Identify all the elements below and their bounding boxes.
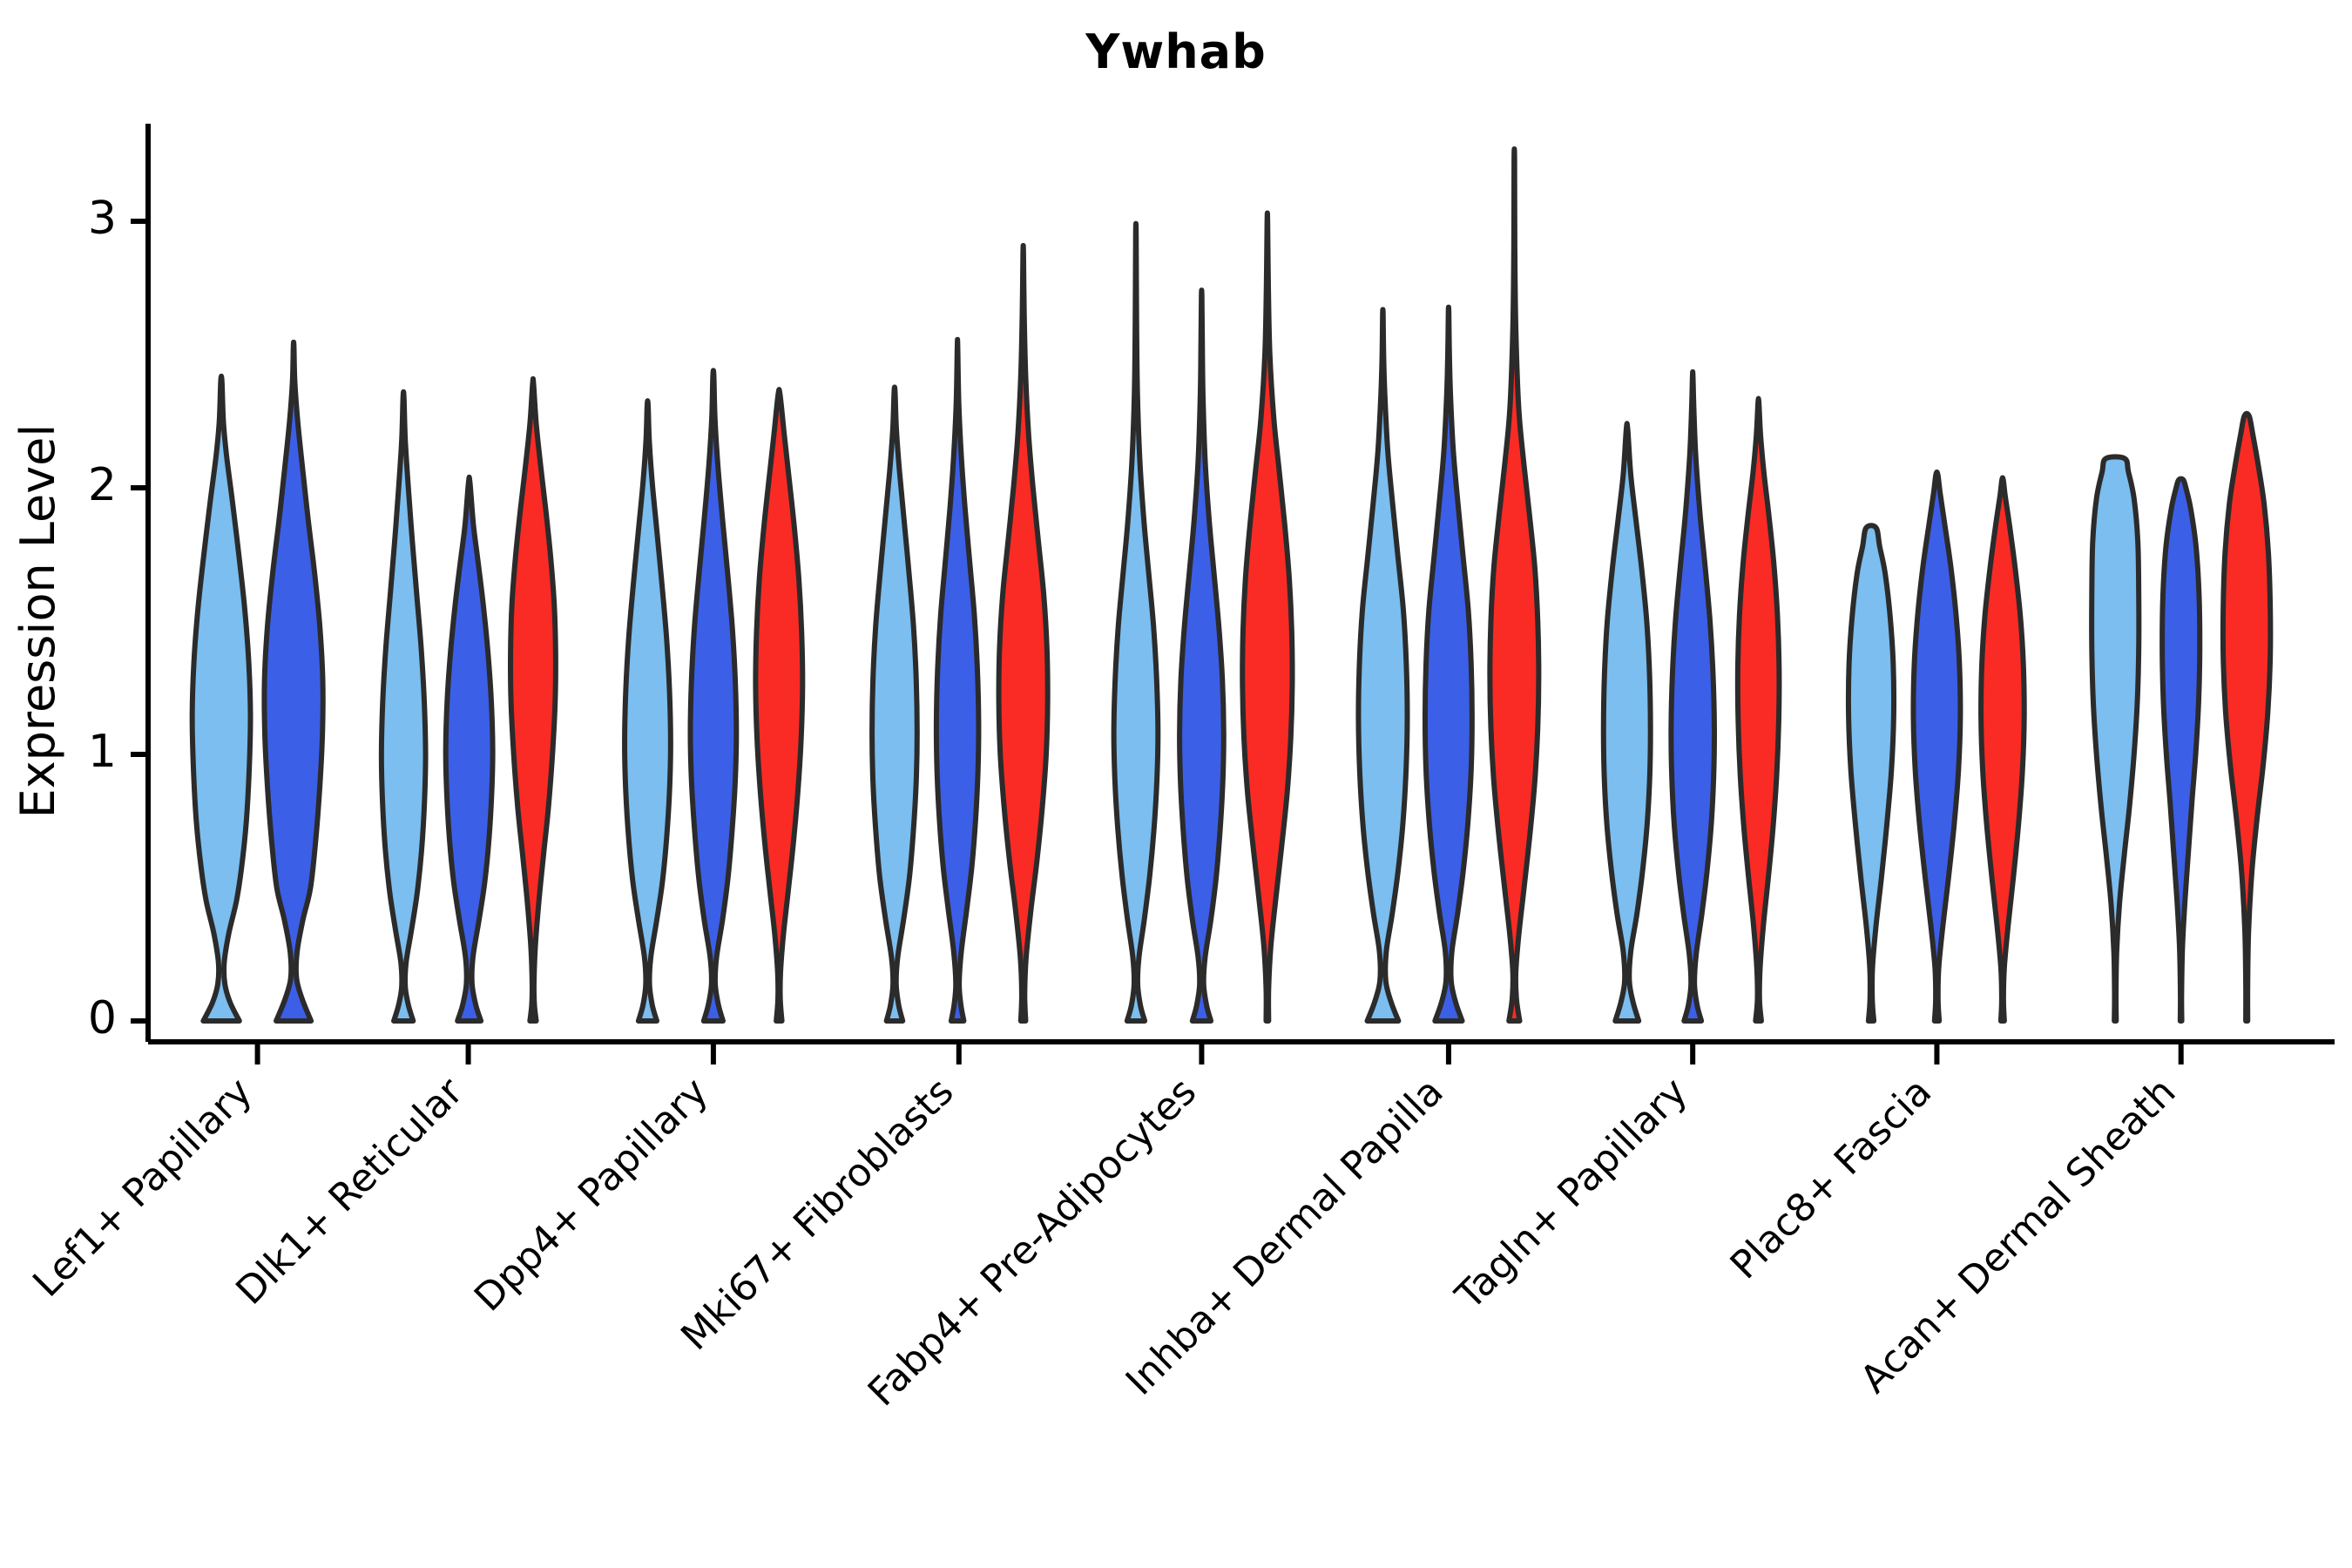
violin-shape	[1179, 290, 1224, 1021]
violin-shape	[382, 392, 426, 1021]
y-tick-label: 3	[88, 193, 117, 245]
y-axis-title: Expression Level	[10, 424, 65, 819]
x-tick-label: Lef1+ Papillary	[24, 1070, 260, 1306]
violin-shape	[1425, 308, 1472, 1021]
x-tick-label: Dpp4+ Papillary	[466, 1070, 717, 1321]
violin-shape	[1981, 478, 2024, 1021]
violin-shape	[1490, 149, 1538, 1021]
violin-shape	[510, 379, 556, 1021]
violin-shape	[264, 342, 322, 1021]
violin-shape	[1114, 224, 1159, 1021]
y-tick-label: 1	[88, 726, 117, 778]
violin-shape	[1242, 213, 1292, 1021]
x-tick-label: Tagln+ Papillary	[1447, 1070, 1696, 1319]
chart-canvas: 0123Expression LevelLef1+ PapillaryDlk1+…	[0, 0, 2352, 1568]
violin-shape	[1604, 423, 1651, 1021]
violin-shape	[999, 246, 1048, 1021]
violin-shape	[625, 401, 671, 1021]
violin-shape	[1358, 309, 1407, 1021]
violin-shape	[2223, 414, 2270, 1021]
violin-shape	[2092, 456, 2139, 1021]
violin-shape	[1848, 525, 1894, 1021]
violin-shape	[446, 477, 493, 1021]
violin-shape	[193, 376, 251, 1021]
violin-shape	[1671, 372, 1714, 1021]
violin-shape	[936, 340, 979, 1021]
violin-shape	[1738, 398, 1780, 1021]
violin-shape	[1913, 472, 1960, 1021]
violin-shape	[872, 387, 917, 1021]
y-tick-label: 2	[88, 459, 117, 511]
violins-layer	[193, 149, 2271, 1021]
x-tick-label: Mki67+ Fibroblasts	[672, 1070, 962, 1359]
violin-shape	[691, 370, 737, 1021]
x-tick-label: Dlk1+ Reticular	[227, 1069, 472, 1314]
y-tick-label: 0	[88, 992, 117, 1044]
violin-shape	[2162, 479, 2200, 1021]
violin-plot-figure: Ywhab 0123Expression LevelLef1+ Papillar…	[0, 0, 2352, 1568]
violin-shape	[755, 389, 802, 1021]
x-tick-label: Plac8+ Fascia	[1722, 1070, 1941, 1288]
